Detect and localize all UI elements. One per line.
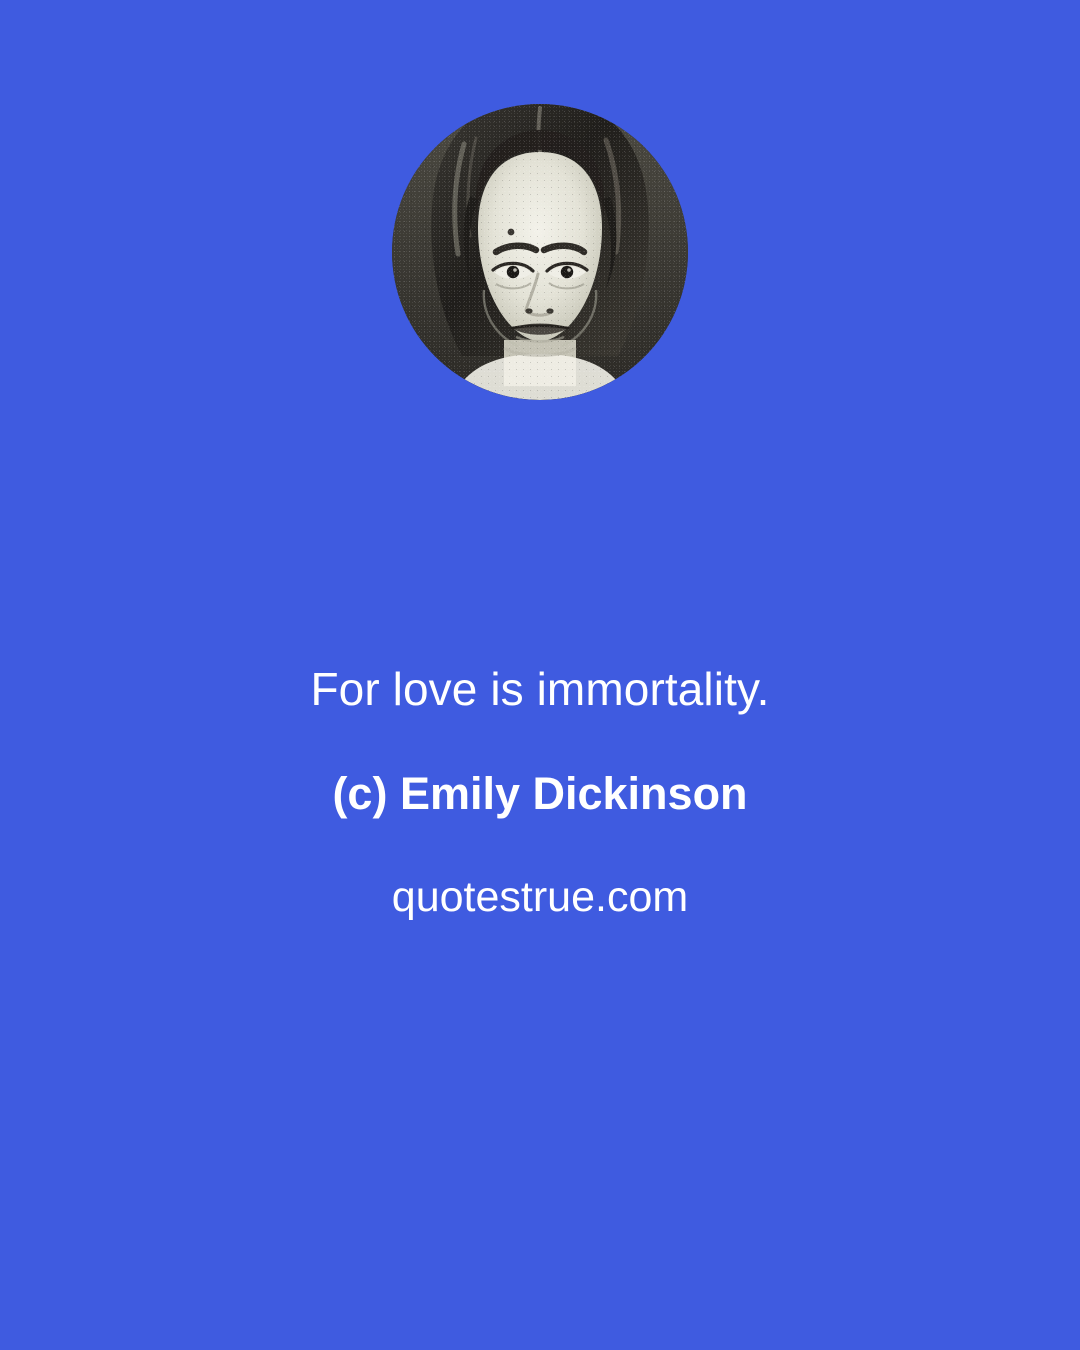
quote-text: For love is immortality. xyxy=(100,660,980,718)
emily-dickinson-portrait-icon xyxy=(392,104,688,400)
portrait-container xyxy=(392,104,688,400)
quote-card: For love is immortality. (c) Emily Dicki… xyxy=(0,0,1080,1350)
quote-attribution: (c) Emily Dickinson xyxy=(100,766,980,822)
source-website: quotestrue.com xyxy=(100,870,980,924)
quote-text-block: For love is immortality. (c) Emily Dicki… xyxy=(0,660,1080,924)
